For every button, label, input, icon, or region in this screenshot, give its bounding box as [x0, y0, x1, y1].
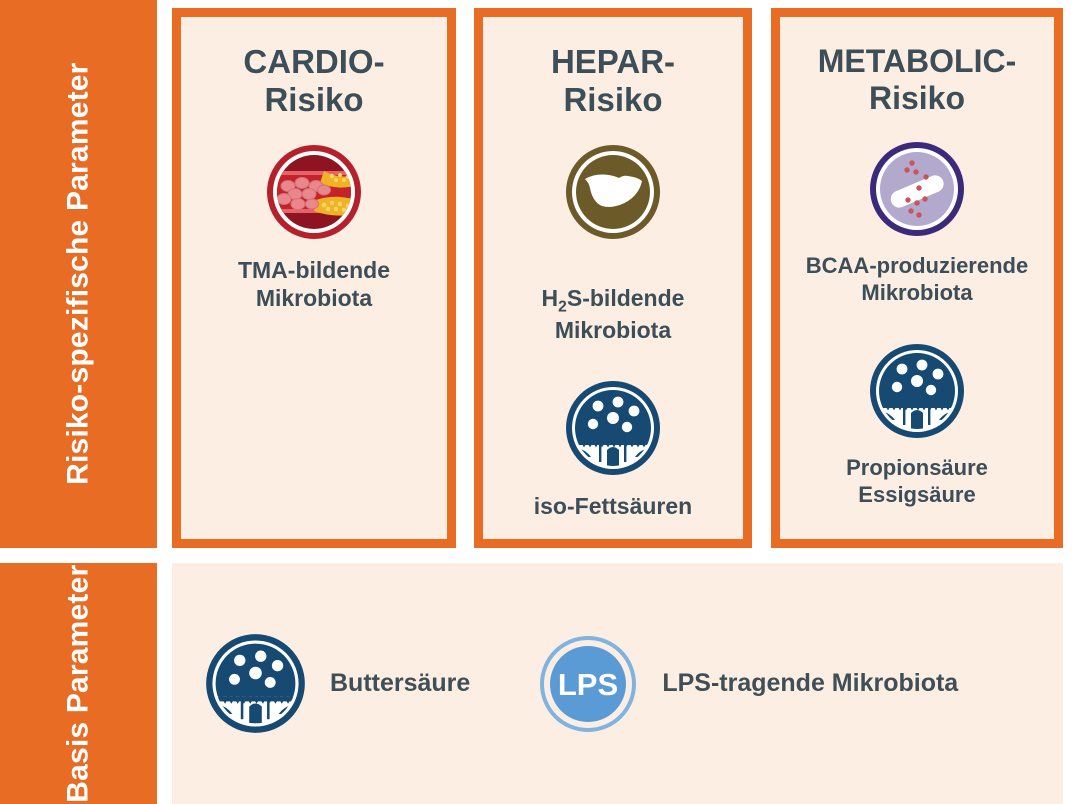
gut-microbiome-icon	[563, 378, 663, 478]
lps-icon-text: LPS	[558, 667, 618, 702]
rail-base-parameters: Basis Parameter	[0, 563, 157, 804]
card-hepar-risk[interactable]: HEPAR- Risiko H2S-bildende Mikrobiota	[474, 8, 752, 548]
entry-label-iso-fettsaeuren: iso-Fettsäuren	[534, 492, 692, 520]
entry-propionsaeure: Propionsäure Essigsäure	[846, 341, 988, 509]
base-label-buttersaeure: Buttersäure	[330, 669, 470, 698]
card-metabolic-title: METABOLIC- Risiko	[818, 43, 1016, 117]
bacterium-icon	[867, 139, 967, 239]
card-cardio-title: CARDIO- Risiko	[243, 43, 384, 120]
entry-label-h2s-prefix: H	[542, 285, 559, 311]
base-parameters-panel: Buttersäure LPS LPS-tragende Mikrobiota	[172, 563, 1063, 804]
entry-label-h2s: H2S-bildende Mikrobiota	[542, 256, 685, 345]
entry-label-h2s-suffix: S-bildende Mikrobiota	[555, 285, 685, 344]
entry-label-h2s-subscript: 2	[558, 298, 567, 315]
rail-risk-specific-parameters: Risiko-spezifische Parameter	[0, 0, 157, 548]
entry-h2s: H2S-bildende Mikrobiota	[542, 142, 685, 345]
entry-label-propionsaeure: Propionsäure Essigsäure	[846, 455, 988, 509]
entry-tma: TMA-bildende Mikrobiota	[238, 142, 390, 312]
entry-bcaa: BCAA-produzierende Mikrobiota	[806, 139, 1028, 307]
card-metabolic-risk[interactable]: METABOLIC- Risiko	[771, 8, 1063, 548]
gut-microbiome-icon	[867, 341, 967, 441]
gut-microbiome-icon	[203, 631, 308, 736]
artery-icon	[264, 142, 364, 242]
card-cardio-risk[interactable]: CARDIO- Risiko	[172, 8, 456, 548]
entry-label-bcaa: BCAA-produzierende Mikrobiota	[806, 253, 1028, 307]
base-item-buttersaeure[interactable]: Buttersäure	[203, 631, 470, 736]
base-label-lps: LPS-tragende Mikrobiota	[662, 669, 958, 698]
lps-icon: LPS	[538, 634, 638, 734]
rail-base-label: Basis Parameter	[61, 564, 96, 802]
card-hepar-title: HEPAR- Risiko	[551, 43, 675, 120]
rail-risk-specific-label: Risiko-spezifische Parameter	[61, 63, 96, 485]
infographic-board: Risiko-spezifische Parameter Basis Param…	[0, 0, 1073, 804]
liver-icon	[563, 142, 663, 242]
base-item-lps[interactable]: LPS LPS-tragende Mikrobiota	[538, 634, 958, 734]
entry-iso-fettsaeuren: iso-Fettsäuren	[534, 378, 692, 520]
entry-label-tma: TMA-bildende Mikrobiota	[238, 256, 390, 312]
